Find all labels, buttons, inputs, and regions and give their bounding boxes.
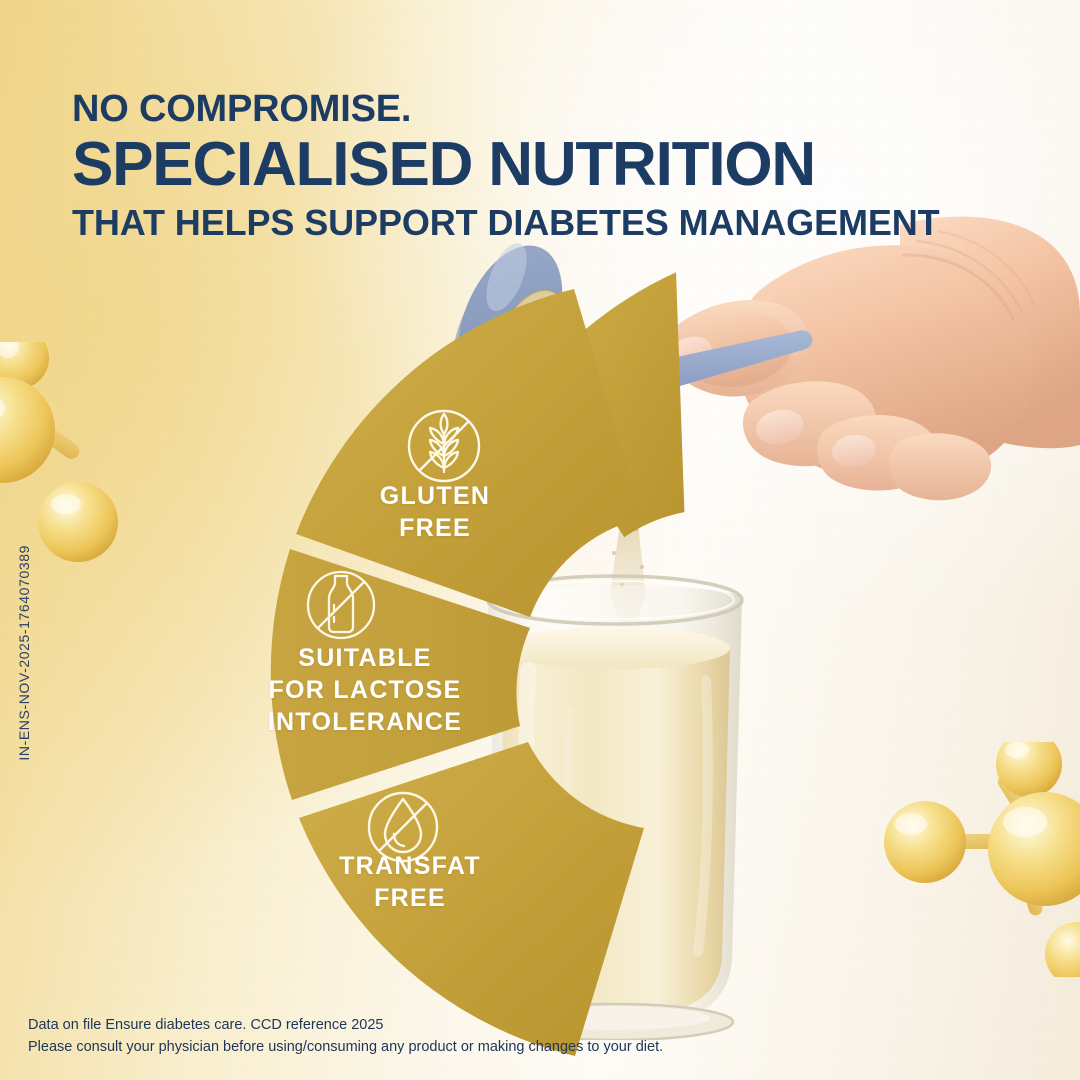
badge-label-line: FREE (330, 512, 540, 544)
headline-line-3: THAT HELPS SUPPORT DIABETES MANAGEMENT (72, 202, 940, 244)
milk-bottle-no-icon (298, 562, 384, 648)
headline-block: NO COMPROMISE. SPECIALISED NUTRITION THA… (72, 88, 940, 244)
footer-disclaimer: Data on file Ensure diabetes care. CCD r… (28, 1014, 663, 1058)
badge-label-lactose: SUITABLE FOR LACTOSE INTOLERANCE (250, 642, 480, 738)
badge-label-line: TRANSFAT (300, 850, 520, 882)
glass-of-milk-icon (470, 560, 760, 1040)
badge-label-gluten-free: GLUTEN FREE (330, 480, 540, 544)
badge-label-line: FOR LACTOSE (250, 674, 480, 706)
footer-line-2: Please consult your physician before usi… (28, 1036, 663, 1058)
badge-label-line: GLUTEN (330, 480, 540, 512)
badge-label-line: INTOLERANCE (250, 706, 480, 738)
badge-label-transfat: TRANSFAT FREE (300, 850, 520, 914)
wheat-no-icon (398, 400, 490, 492)
hand-holding-scoop (430, 195, 1080, 615)
footer-line-1: Data on file Ensure diabetes care. CCD r… (28, 1014, 663, 1036)
gold-molecule-icon (0, 342, 146, 562)
headline-line-1: NO COMPROMISE. (72, 88, 940, 130)
reference-code: IN-ENS-NOV-2025-1764070389 (16, 545, 32, 761)
advertisement-canvas: GLUTEN FREE SUITABLE FOR LACTOSE INTOLER… (0, 0, 1080, 1080)
gold-molecule-icon (881, 742, 1080, 977)
headline-line-2: SPECIALISED NUTRITION (72, 132, 940, 198)
badge-label-line: SUITABLE (250, 642, 480, 674)
badge-label-line: FREE (300, 882, 520, 914)
